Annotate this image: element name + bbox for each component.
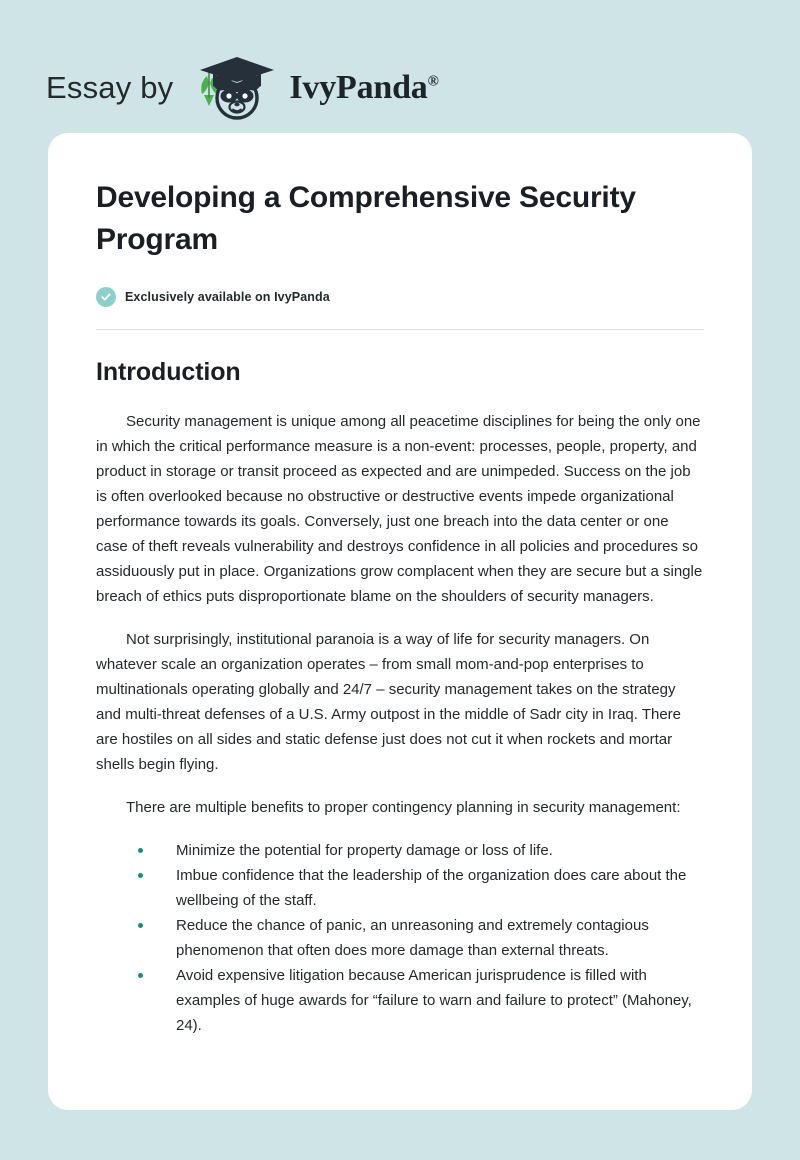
body-paragraph: Security management is unique among all … xyxy=(96,409,704,609)
benefits-list: Minimize the potential for property dama… xyxy=(96,838,704,1038)
page-title: Developing a Comprehensive Security Prog… xyxy=(96,177,704,261)
list-item: Imbue confidence that the leadership of … xyxy=(96,863,704,913)
ivypanda-logo[interactable]: IvyPanda® xyxy=(189,54,438,122)
essay-card: Developing a Comprehensive Security Prog… xyxy=(48,133,752,1110)
list-item: Avoid expensive litigation because Ameri… xyxy=(96,963,704,1038)
ivypanda-panda-logo-icon xyxy=(189,54,285,122)
section-heading-introduction: Introduction xyxy=(96,358,704,387)
title-divider xyxy=(96,329,704,330)
exclusive-availability-badge: Exclusively available on IvyPanda xyxy=(96,287,704,307)
check-circle-icon xyxy=(96,287,116,307)
registered-trademark-symbol: ® xyxy=(428,73,439,89)
list-item: Reduce the chance of panic, an unreasoni… xyxy=(96,913,704,963)
body-paragraph: There are multiple benefits to proper co… xyxy=(96,795,704,820)
list-item: Minimize the potential for property dama… xyxy=(96,838,704,863)
exclusive-availability-text: Exclusively available on IvyPanda xyxy=(125,290,330,304)
site-header: Essay by xyxy=(0,0,800,133)
essay-by-label: Essay by xyxy=(46,72,173,103)
brand-name: IvyPanda xyxy=(289,69,427,106)
brand-wordmark: IvyPanda® xyxy=(289,71,438,105)
body-paragraph: Not surprisingly, institutional paranoia… xyxy=(96,627,704,777)
